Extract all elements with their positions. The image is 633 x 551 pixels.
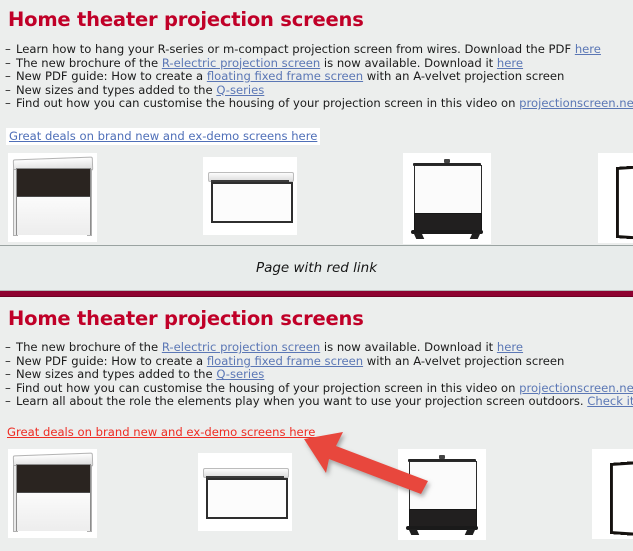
bullet-text: New PDF guide: How to create a: [16, 69, 207, 83]
thumbnail-electric-projection-screen[interactable]: [203, 157, 297, 235]
thumbnail-row-bottom: [0, 447, 633, 543]
bullet-text: Find out how you can customise the housi…: [16, 381, 519, 395]
screen-surface: [211, 182, 294, 223]
page-title: Home theater projection screens: [0, 297, 633, 330]
inline-link[interactable]: here: [575, 42, 601, 56]
bullet-text: with an A-velvet projection screen: [363, 69, 564, 83]
thumbnail-frame-projection-screen[interactable]: [592, 449, 633, 539]
inline-link[interactable]: R-electric projection screen: [162, 56, 320, 70]
screen-surface: [414, 165, 483, 215]
bullet-text: Learn all about the role the elements pl…: [16, 394, 587, 408]
bullet-text: The new brochure of the: [16, 340, 162, 354]
divider-accent-bar: [0, 290, 633, 297]
bullet-item: New sizes and types added to the Q-serie…: [5, 84, 633, 98]
bullet-text: The new brochure of the: [16, 56, 162, 70]
thumbnail-floor-pull-up-screen[interactable]: [403, 153, 491, 244]
screen-surface: [409, 461, 478, 511]
bullet-text: with an A-velvet projection screen: [363, 354, 564, 368]
inline-link[interactable]: projectionscreen.net: [519, 96, 633, 110]
bullet-list: The new brochure of the R-electric proje…: [5, 341, 633, 409]
page-title: Home theater projection screens: [0, 0, 633, 31]
inline-link[interactable]: floating fixed frame screen: [207, 354, 363, 368]
screen-right-leg: [464, 529, 475, 535]
page-top-blue-link: Home theater projection screens Learn ho…: [0, 0, 633, 245]
great-deals-link[interactable]: Great deals on brand new and ex-demo scr…: [6, 128, 320, 145]
great-deals-link[interactable]: Great deals on brand new and ex-demo scr…: [6, 424, 316, 441]
inline-link[interactable]: Q-series: [216, 367, 264, 381]
bullet-text: is now available. Download it: [320, 56, 497, 70]
inline-link[interactable]: Q-series: [216, 83, 264, 97]
bullet-item: New sizes and types added to the Q-serie…: [5, 368, 633, 382]
thumbnail-row-top: [0, 151, 633, 246]
inline-link[interactable]: here: [497, 340, 523, 354]
deal-link-row-top: Great deals on brand new and ex-demo scr…: [0, 125, 633, 145]
page-bottom-red-link: Home theater projection screens The new …: [0, 297, 633, 548]
bullet-item: Find out how you can customise the housi…: [5, 382, 633, 396]
screen-surface: [206, 478, 289, 519]
bullet-item: New PDF guide: How to create a floating …: [5, 355, 633, 369]
news-list-top: Learn how to hang your R-series or m-com…: [0, 43, 633, 111]
screen-right-leg: [469, 233, 480, 239]
bullet-list: Learn how to hang your R-series or m-com…: [5, 43, 633, 111]
screen-white-area: [17, 492, 90, 531]
bullet-item: The new brochure of the R-electric proje…: [5, 341, 633, 355]
bullet-text: New sizes and types added to the: [16, 367, 216, 381]
divider-label: Page with red link: [0, 260, 633, 276]
inline-link[interactable]: projectionscreen.net: [519, 381, 633, 395]
bullet-item: Learn how to hang your R-series or m-com…: [5, 43, 633, 57]
inline-link[interactable]: Check it ou: [587, 394, 633, 408]
bullet-text: New sizes and types added to the: [16, 83, 216, 97]
thumbnail-tab-tensioned-electric-screen[interactable]: [8, 449, 97, 538]
screen-white-area: [17, 196, 90, 235]
thumbnail-floor-pull-up-screen[interactable]: [398, 449, 486, 540]
inline-link[interactable]: R-electric projection screen: [162, 340, 320, 354]
thumbnail-electric-projection-screen[interactable]: [198, 453, 292, 531]
thumbnail-frame-projection-screen[interactable]: [598, 153, 633, 243]
screen-surface: [16, 168, 91, 236]
screen-frame-outline: [616, 160, 633, 243]
bullet-item: The new brochure of the R-electric proje…: [5, 57, 633, 71]
thumbnail-tab-tensioned-electric-screen[interactable]: [8, 153, 97, 242]
bullet-text: is now available. Download it: [320, 340, 497, 354]
inline-link[interactable]: here: [497, 56, 523, 70]
screen-surface: [16, 464, 91, 532]
bullet-text: Find out how you can customise the housi…: [16, 96, 519, 110]
bullet-text: New PDF guide: How to create a: [16, 354, 207, 368]
inline-link[interactable]: floating fixed frame screen: [207, 69, 363, 83]
bullet-item: Learn all about the role the elements pl…: [5, 395, 633, 409]
bullet-text: Learn how to hang your R-series or m-com…: [16, 42, 575, 56]
bullet-item: Find out how you can customise the housi…: [5, 97, 633, 111]
news-list-bottom: The new brochure of the R-electric proje…: [0, 341, 633, 409]
section-divider: Page with red link: [0, 245, 633, 297]
deal-link-row-bottom: Great deals on brand new and ex-demo scr…: [0, 421, 633, 441]
screen-frame-outline: [610, 456, 633, 539]
bullet-item: New PDF guide: How to create a floating …: [5, 70, 633, 84]
